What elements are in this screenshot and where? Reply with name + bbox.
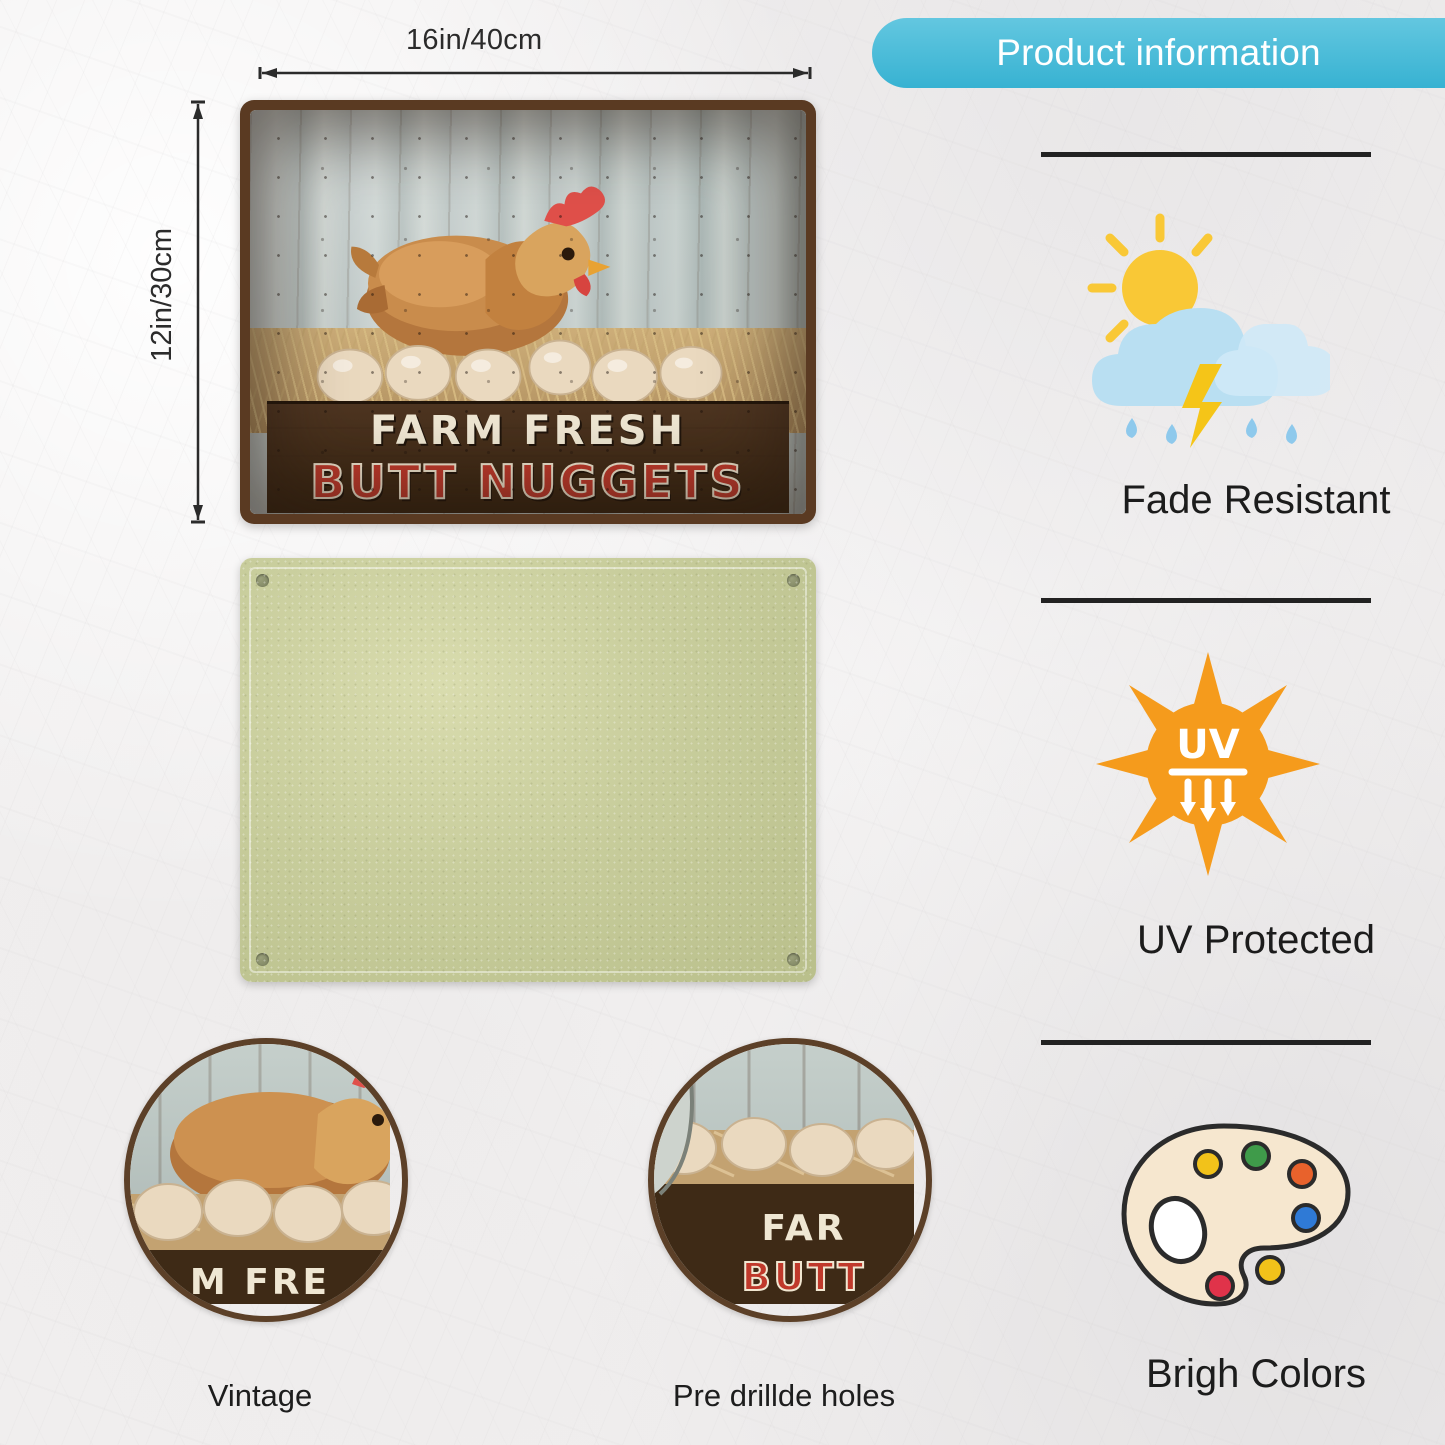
height-dimension-arrow bbox=[190, 100, 206, 524]
svg-text:M FRE: M FRE bbox=[190, 1262, 330, 1303]
svg-text:FAR: FAR bbox=[761, 1208, 846, 1249]
pre-drilled-hole bbox=[787, 574, 800, 587]
product-information-title: Product information bbox=[996, 32, 1321, 74]
detail-holes-art: FAR BUTT bbox=[654, 1044, 914, 1304]
eggs-illustration bbox=[283, 328, 772, 409]
width-dimension-arrow bbox=[257, 66, 813, 80]
uv-icon-text: UV bbox=[1176, 722, 1239, 768]
product-information-header: Product information bbox=[872, 18, 1445, 88]
divider-middle bbox=[1041, 598, 1371, 603]
product-sign-front: FARM FRESH BUTT NUGGETS bbox=[240, 100, 816, 524]
sign-subheadline: BUTT NUGGETS bbox=[267, 455, 790, 509]
sun-cloud-rain-icon bbox=[1086, 212, 1330, 456]
uv-sun-icon: UV bbox=[1096, 652, 1320, 876]
sign-text-board: FARM FRESH BUTT NUGGETS bbox=[267, 401, 790, 513]
product-sign-back bbox=[240, 558, 816, 982]
sign-headline: FARM FRESH bbox=[267, 408, 790, 454]
detail-caption-vintage: Vintage bbox=[124, 1378, 396, 1414]
feature-label-bright-colors: Brigh Colors bbox=[1041, 1352, 1445, 1397]
feature-label-uv-protected: UV Protected bbox=[1041, 918, 1445, 963]
detail-caption-holes: Pre drillde holes bbox=[628, 1378, 940, 1414]
detail-vintage-art: M FRE bbox=[130, 1044, 390, 1304]
svg-text:BUTT: BUTT bbox=[742, 1255, 867, 1299]
pre-drilled-hole bbox=[787, 953, 800, 966]
divider-top bbox=[1041, 152, 1371, 157]
feature-label-fade-resistant: Fade Resistant bbox=[1041, 478, 1445, 523]
sign-artwork: FARM FRESH BUTT NUGGETS bbox=[250, 110, 806, 514]
width-dimension-label: 16in/40cm bbox=[406, 24, 543, 57]
divider-bottom bbox=[1041, 1040, 1371, 1045]
detail-circle-holes: FAR BUTT bbox=[648, 1038, 932, 1322]
pre-drilled-hole bbox=[256, 574, 269, 587]
detail-circle-vintage: M FRE bbox=[124, 1038, 408, 1322]
height-dimension-label: 12in/30cm bbox=[146, 228, 192, 362]
paint-palette-icon bbox=[1116, 1118, 1356, 1318]
pre-drilled-hole bbox=[256, 953, 269, 966]
